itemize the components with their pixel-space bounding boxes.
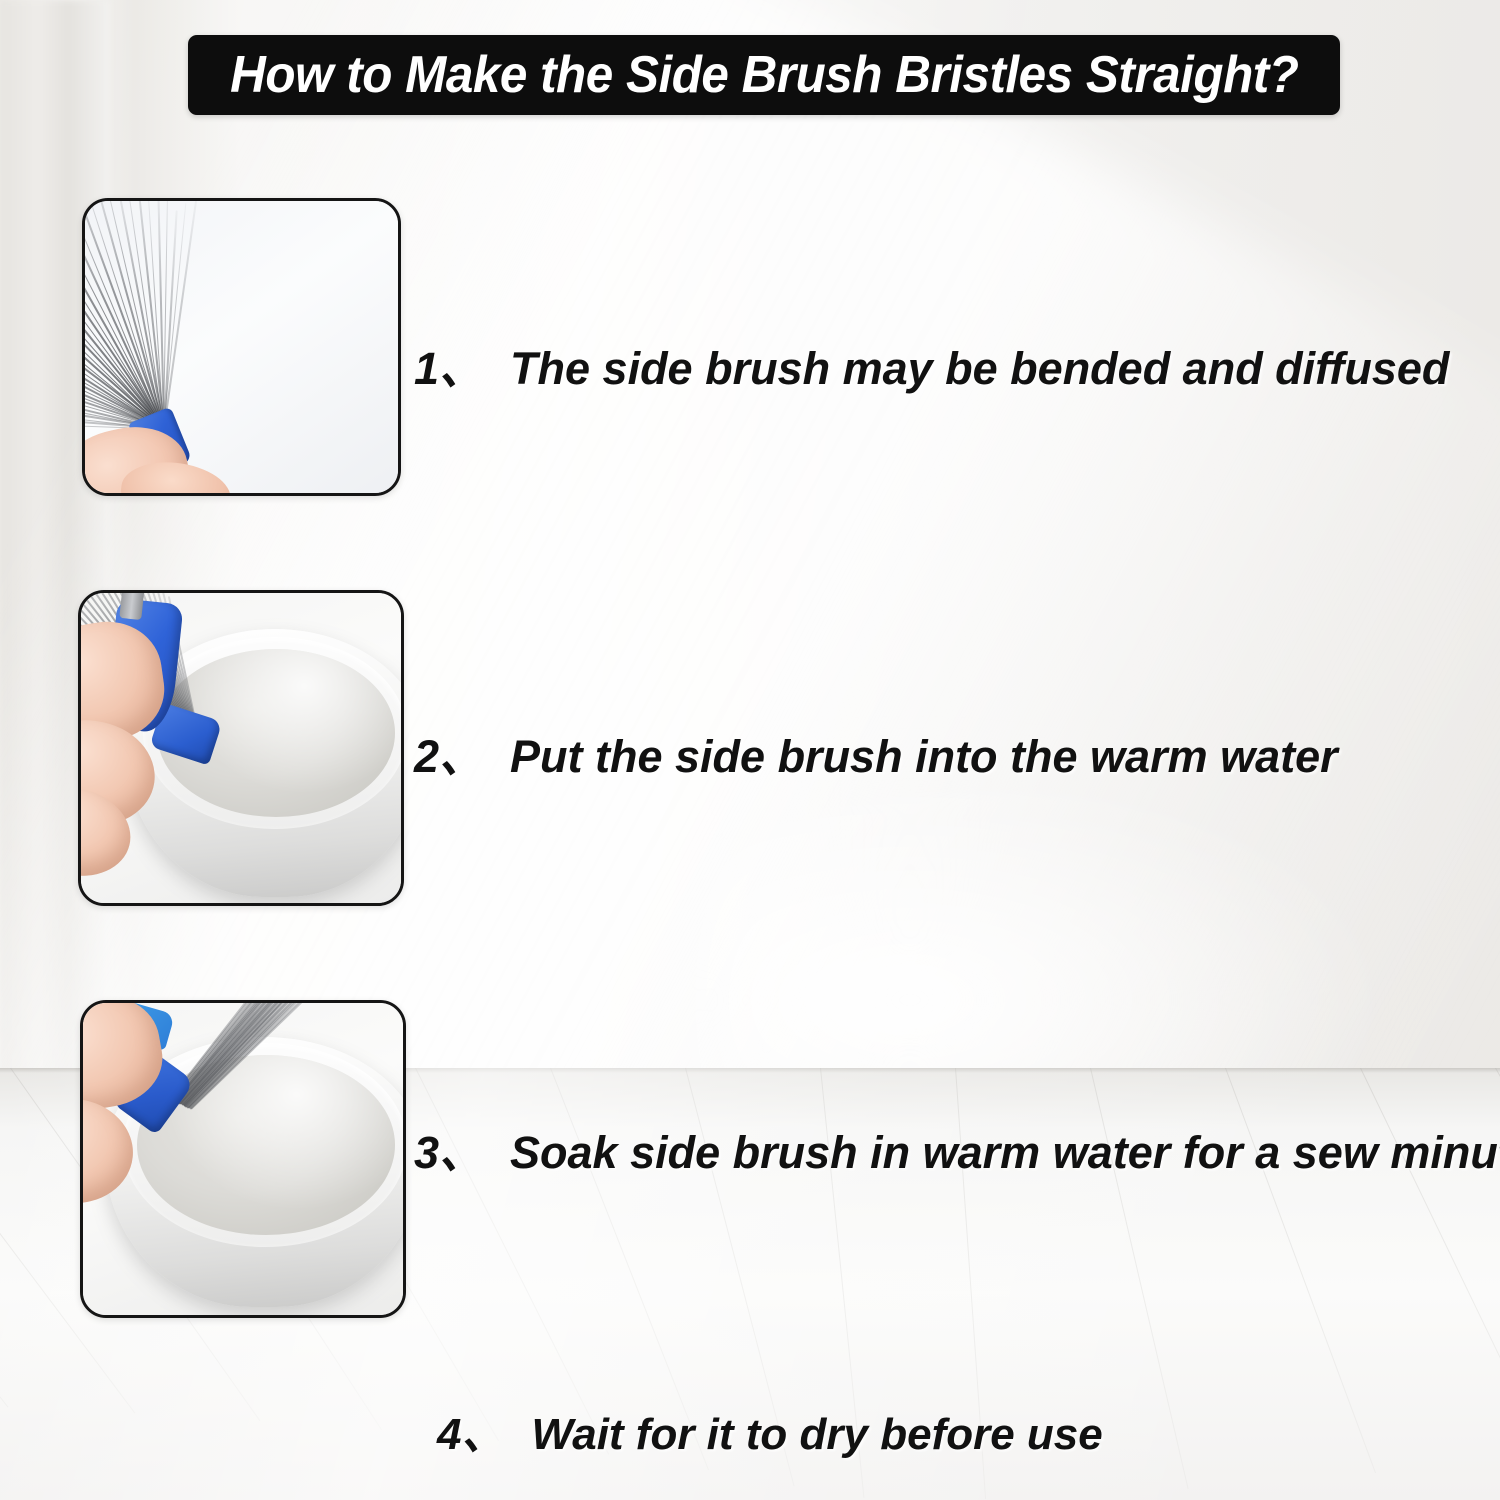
step-2-label: Put the side brush into the warm water: [510, 731, 1338, 783]
step-4-text: 4、 Wait for it to dry before use: [437, 1398, 1103, 1462]
step-3-photo-inner: [83, 1003, 403, 1315]
page-title: How to Make the Side Brush Bristles Stra…: [230, 45, 1298, 105]
step-1-text: 1、 The side brush may be bended and diff…: [414, 332, 1449, 397]
title-bar: How to Make the Side Brush Bristles Stra…: [188, 35, 1340, 115]
step-4-number: 4、: [437, 1398, 505, 1462]
step-2-photo-inner: [81, 593, 401, 903]
step-1-photo-inner: [85, 201, 398, 493]
brush-metal-shaft: [119, 590, 144, 620]
infographic-canvas: How to Make the Side Brush Bristles Stra…: [0, 0, 1500, 1500]
step-1-label: The side brush may be bended and diffuse…: [510, 343, 1449, 395]
step-1-number: 1、: [414, 332, 484, 397]
step-2-text: 2、 Put the side brush into the warm wate…: [414, 720, 1338, 785]
step-4-label: Wait for it to dry before use: [531, 1410, 1102, 1460]
step-3-label: Soak side brush in warm water for a sew …: [510, 1127, 1500, 1179]
step-2-number: 2、: [414, 720, 484, 785]
step-2-photo: [78, 590, 404, 906]
step-3-number: 3、: [414, 1116, 484, 1181]
step-1-photo: [82, 198, 401, 496]
background-left-wall-edge: [0, 0, 110, 1090]
step-3-photo: [80, 1000, 406, 1318]
step-3-text: 3、 Soak side brush in warm water for a s…: [414, 1116, 1500, 1181]
